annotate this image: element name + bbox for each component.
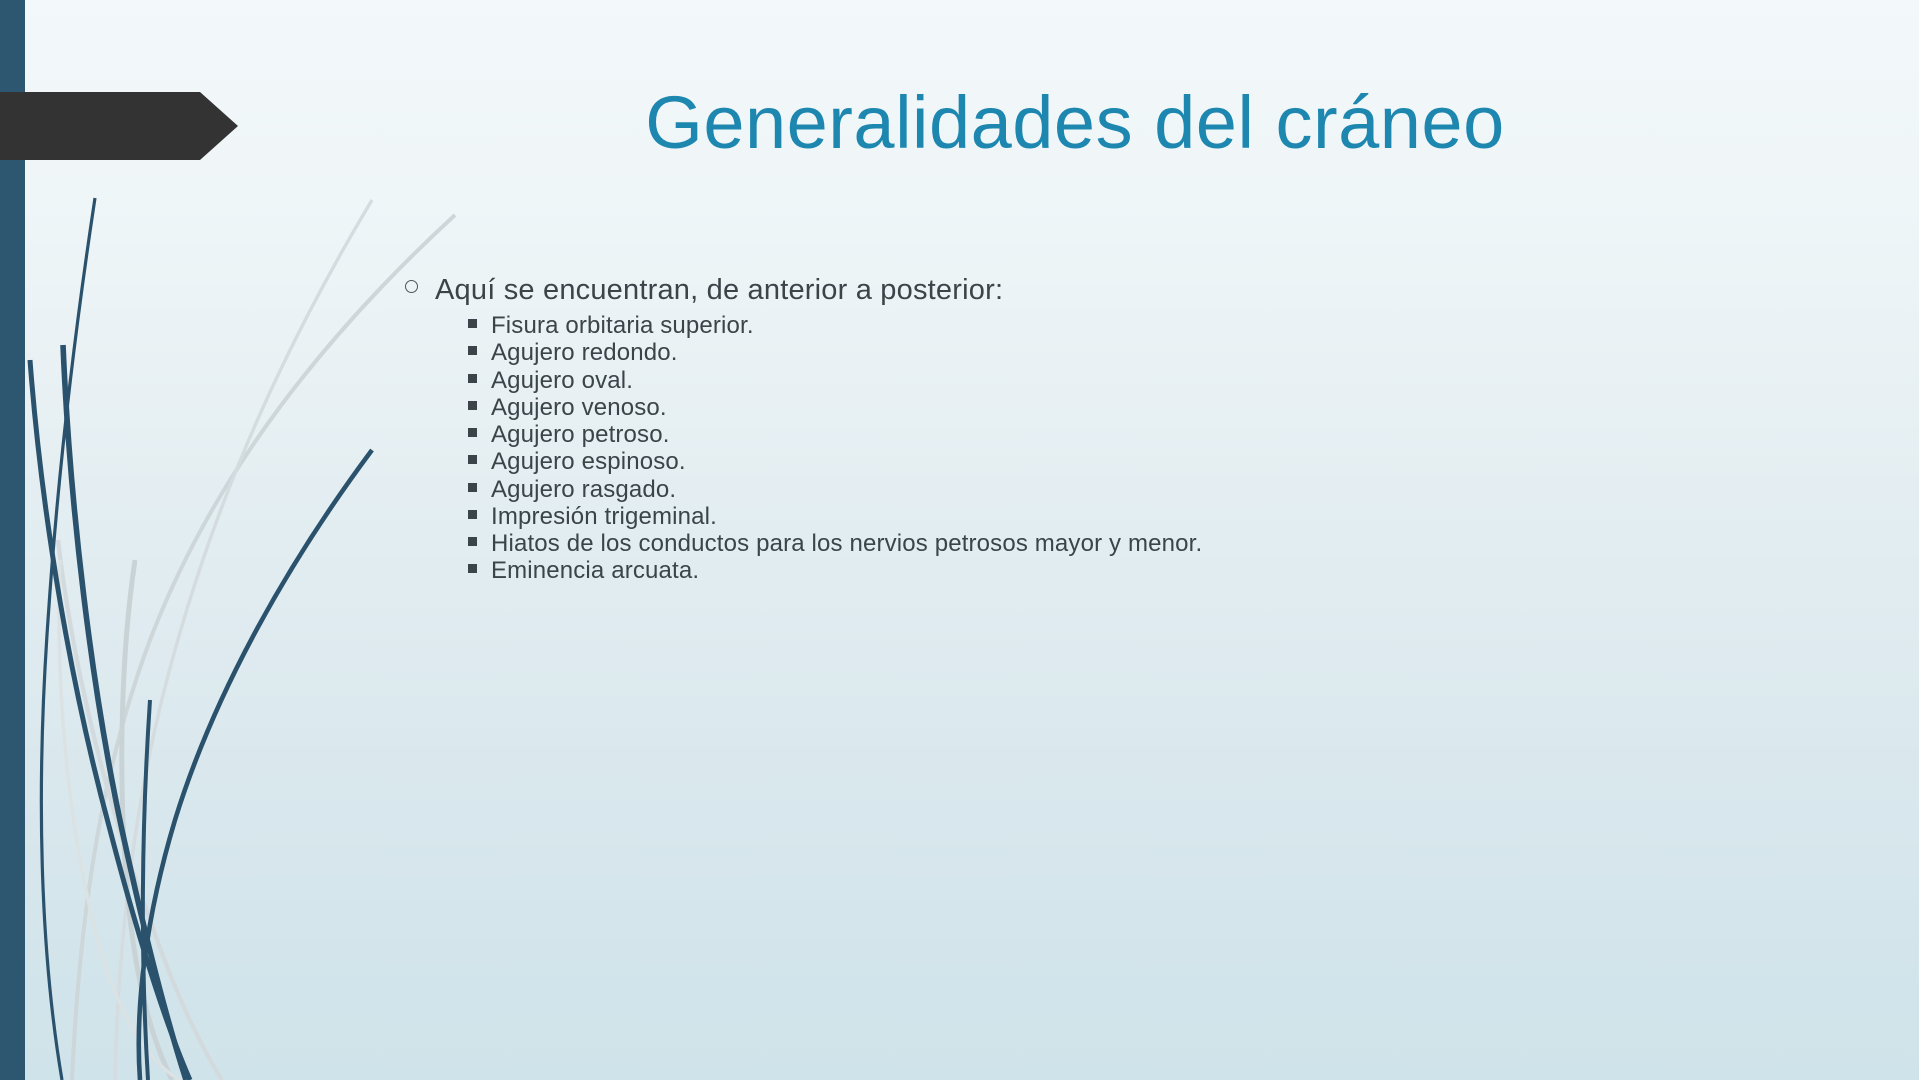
square-bullet-icon: [468, 455, 477, 464]
list-item-label: Agujero petroso.: [491, 421, 670, 448]
square-bullet-icon: [468, 537, 477, 546]
stem-light-2: [115, 200, 372, 1080]
presentation-slide: Generalidades del cráneo Aquí se encuent…: [0, 0, 1919, 1080]
stem-light-5: [59, 560, 180, 1080]
stem-dark-4: [139, 450, 372, 1080]
square-bullet-icon: [468, 483, 477, 492]
stem-dark-1: [41, 198, 95, 1080]
lead-bullet-text: Aquí se encuentran, de anterior a poster…: [435, 272, 1003, 309]
list-item-label: Agujero redondo.: [491, 339, 678, 366]
arrow-banner-shape: [0, 92, 238, 160]
list-item-label: Impresión trigeminal.: [491, 503, 717, 530]
stem-light-4: [58, 540, 222, 1080]
list-item: Agujero rasgado.: [405, 476, 1605, 503]
square-bullet-icon: [468, 374, 477, 383]
list-item-label: Eminencia arcuata.: [491, 557, 699, 584]
list-item: Eminencia arcuata.: [405, 557, 1605, 584]
stem-dark-5: [143, 700, 150, 1080]
list-item: Agujero petroso.: [405, 421, 1605, 448]
list-item-label: Agujero rasgado.: [491, 476, 676, 503]
list-item: Impresión trigeminal.: [405, 503, 1605, 530]
square-bullet-icon: [468, 510, 477, 519]
square-bullet-icon: [468, 564, 477, 573]
list-item-label: Agujero oval.: [491, 367, 633, 394]
list-item-label: Hiatos de los conductos para los nervios…: [491, 530, 1202, 557]
square-bullet-icon: [468, 401, 477, 410]
left-accent-stripe: [0, 0, 25, 1080]
ring-bullet-icon: [405, 280, 418, 293]
stem-dark-2: [30, 360, 190, 1080]
stem-light-3: [122, 560, 172, 1080]
list-item-label: Agujero espinoso.: [491, 448, 686, 475]
list-item: Agujero venoso.: [405, 394, 1605, 421]
list-item: Agujero espinoso.: [405, 448, 1605, 475]
slide-title: Generalidades del cráneo: [350, 82, 1800, 163]
list-item-label: Fisura orbitaria superior.: [491, 312, 754, 339]
sub-bullet-list: Fisura orbitaria superior. Agujero redon…: [405, 312, 1605, 584]
square-bullet-icon: [468, 346, 477, 355]
list-item: Agujero oval.: [405, 367, 1605, 394]
stem-light-1: [72, 215, 455, 1080]
list-item: Fisura orbitaria superior.: [405, 312, 1605, 339]
slide-body: Aquí se encuentran, de anterior a poster…: [405, 272, 1605, 584]
list-item-label: Agujero venoso.: [491, 394, 667, 421]
square-bullet-icon: [468, 319, 477, 328]
list-item: Hiatos de los conductos para los nervios…: [405, 530, 1605, 557]
list-item: Agujero redondo.: [405, 339, 1605, 366]
square-bullet-icon: [468, 428, 477, 437]
stem-dark-3: [63, 345, 186, 1080]
lead-bullet-item: Aquí se encuentran, de anterior a poster…: [405, 272, 1605, 309]
